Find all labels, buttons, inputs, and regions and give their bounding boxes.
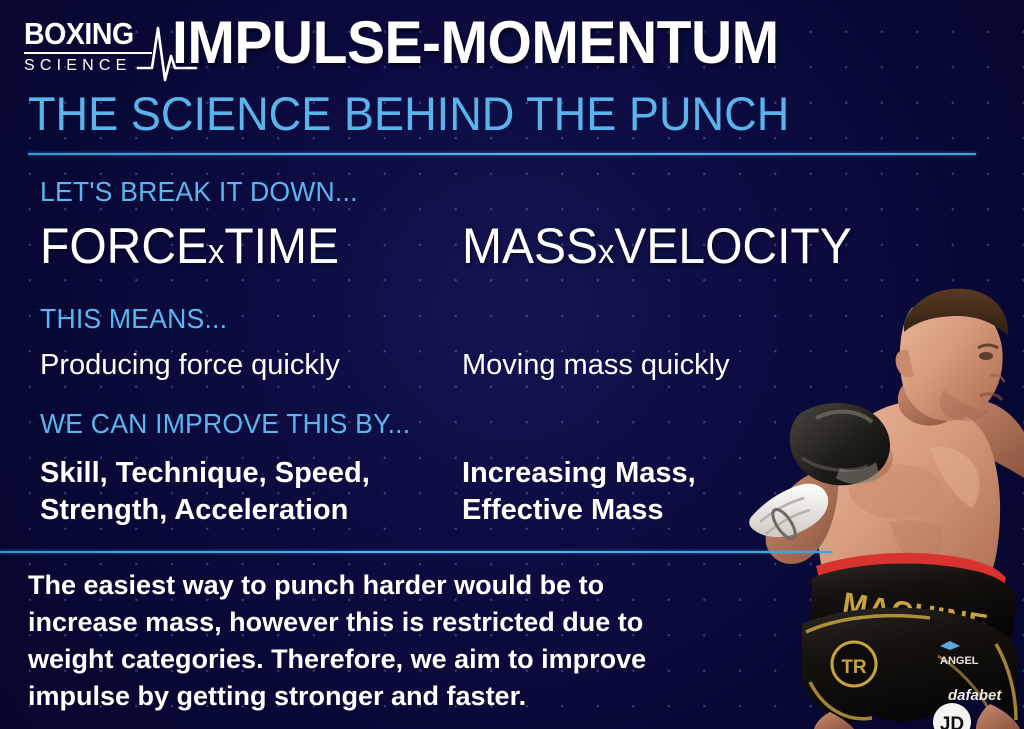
boxer-photo: MACHINE TR ANGEL dafabet JD bbox=[690, 272, 1024, 729]
improve-momentum-line-2: Effective Mass bbox=[462, 492, 696, 529]
kicker-break-it-down: LET'S BREAK IT DOWN... bbox=[40, 176, 358, 208]
kicker-this-means: THIS MEANS... bbox=[40, 303, 227, 335]
formula-impulse-operator: x bbox=[208, 233, 224, 271]
kicker-we-can-improve: WE CAN IMPROVE THIS BY... bbox=[40, 408, 410, 440]
page-title: IMPULSE-MOMENTUM bbox=[172, 10, 779, 76]
divider-top bbox=[28, 153, 976, 155]
formula-impulse: FORCExTIME bbox=[40, 218, 339, 280]
formula-momentum-term-b: VELOCITY bbox=[614, 218, 851, 274]
formula-impulse-term-a: FORCE bbox=[40, 218, 208, 274]
infographic-poster: BOXING SCIENCE IMPULSE-MOMENTUM THE SCIE… bbox=[0, 0, 1024, 729]
divider-bottom bbox=[0, 551, 832, 553]
improve-impulse-list: Skill, Technique, Speed, Strength, Accel… bbox=[40, 455, 370, 529]
sponsor-angel-text: ANGEL bbox=[940, 655, 979, 667]
boxer-eye bbox=[979, 352, 993, 360]
improve-impulse-line-2: Strength, Acceleration bbox=[40, 492, 370, 529]
formula-momentum-operator: x bbox=[598, 233, 614, 271]
improve-momentum-list: Increasing Mass, Effective Mass bbox=[462, 455, 696, 529]
header: BOXING SCIENCE IMPULSE-MOMENTUM THE SCIE… bbox=[0, 0, 1024, 150]
sponsor-jd-text: JD bbox=[940, 714, 964, 729]
formula-momentum-term-a: MASS bbox=[462, 218, 598, 274]
boxing-science-logo: BOXING SCIENCE bbox=[24, 18, 174, 80]
sponsor-tr-text: TR bbox=[841, 657, 867, 678]
boxer-illustration: MACHINE TR ANGEL dafabet JD bbox=[690, 272, 1024, 729]
improve-impulse-line-1: Skill, Technique, Speed, bbox=[40, 455, 370, 492]
footer-paragraph: The easiest way to punch harder would be… bbox=[28, 567, 668, 715]
sponsor-dafabet-text: dafabet bbox=[948, 687, 1002, 704]
formula-impulse-term-b: TIME bbox=[224, 218, 339, 274]
meaning-impulse: Producing force quickly bbox=[40, 348, 340, 382]
improve-momentum-line-1: Increasing Mass, bbox=[462, 455, 696, 492]
page-subtitle: THE SCIENCE BEHIND THE PUNCH bbox=[28, 88, 789, 140]
formula-momentum: MASSxVELOCITY bbox=[462, 218, 852, 280]
